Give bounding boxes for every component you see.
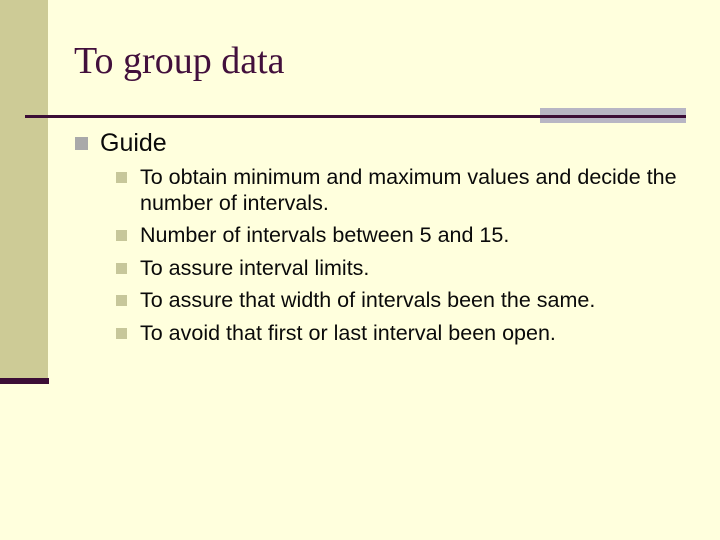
bullet-level2-label: To assure interval limits. [140,256,692,282]
page-title: To group data [74,38,674,84]
bullet-level2-label: To avoid that first or last interval bee… [140,321,692,347]
slide-canvas: To group data Guide To obtain minimum an… [0,0,720,540]
bullet-level2-item: To assure interval limits. [0,256,720,282]
bullet-level2-item: To obtain minimum and maximum values and… [0,165,720,216]
bullet-level2-item: Number of intervals between 5 and 15. [0,223,720,249]
square-bullet-icon [116,328,127,339]
square-bullet-icon [116,172,127,183]
slide-body: Guide To obtain minimum and maximum valu… [0,128,720,353]
left-band-cap-bar [0,378,49,384]
square-bullet-icon [116,230,127,241]
bullet-level1-label: Guide [100,129,167,157]
bullet-level2-item: To avoid that first or last interval bee… [0,321,720,347]
bullet-level2-item: To assure that width of intervals been t… [0,288,720,314]
bullet-level2-label: To assure that width of intervals been t… [140,288,692,314]
header-divider-rule [25,115,686,118]
bullet-level2-label: To obtain minimum and maximum values and… [140,165,692,216]
bullet-level2-label: Number of intervals between 5 and 15. [140,223,692,249]
square-bullet-icon [116,295,127,306]
square-bullet-icon [75,137,88,150]
bullet-level1-guide: Guide [0,128,720,159]
square-bullet-icon [116,263,127,274]
